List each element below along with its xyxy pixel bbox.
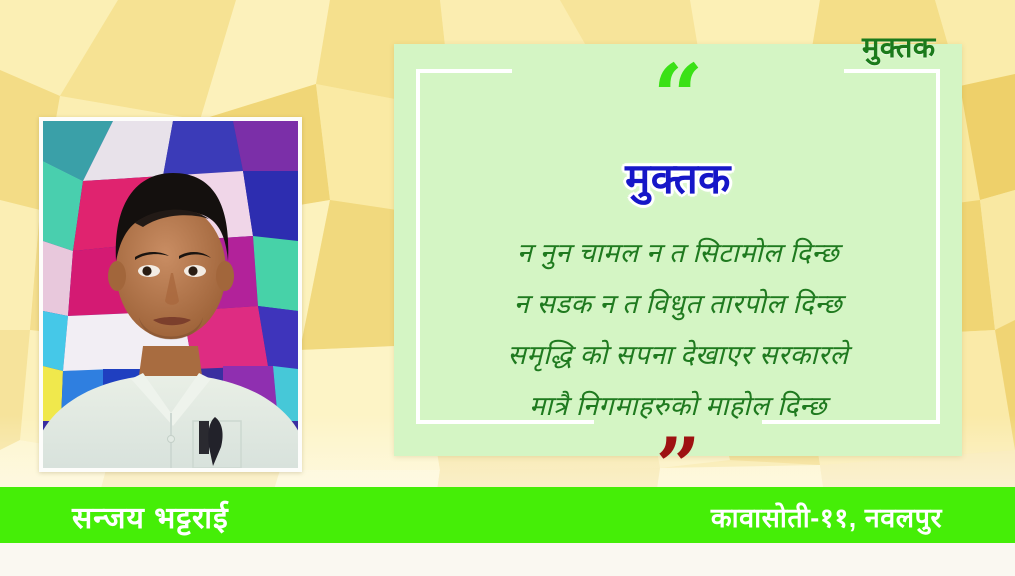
poem-text: न नुन चामल न त सिटामोल दिन्छ न सडक न त व…	[420, 228, 936, 432]
poem-line: न सडक न त विधुत तारपोल दिन्छ	[420, 279, 936, 330]
poem-line: न नुन चामल न त सिटामोल दिन्छ	[420, 228, 936, 279]
author-address: कावासोती-११, नवलपुर	[711, 498, 942, 535]
corner-badge-muktak: मुक्तक	[862, 27, 936, 66]
portrait-photo	[43, 121, 298, 468]
bottom-strip	[0, 543, 1015, 576]
quote-card: “ मुक्तक न नुन चामल न त सिटामोल दिन्छ न …	[394, 44, 962, 456]
muktak-poster: मुक्तक “ मुक्तक न नुन चामल न त सिटामोल द…	[0, 0, 1015, 576]
footer-bar: सन्जय भट्टराई कावासोती-११, नवलपुर	[0, 487, 1015, 543]
card-title: मुक्तक	[394, 149, 962, 206]
portrait-photo-frame	[39, 117, 302, 472]
author-name: सन्जय भट्टराई	[72, 496, 229, 537]
poem-line: समृद्धि को सपना देखाएर सरकारले	[420, 330, 936, 381]
